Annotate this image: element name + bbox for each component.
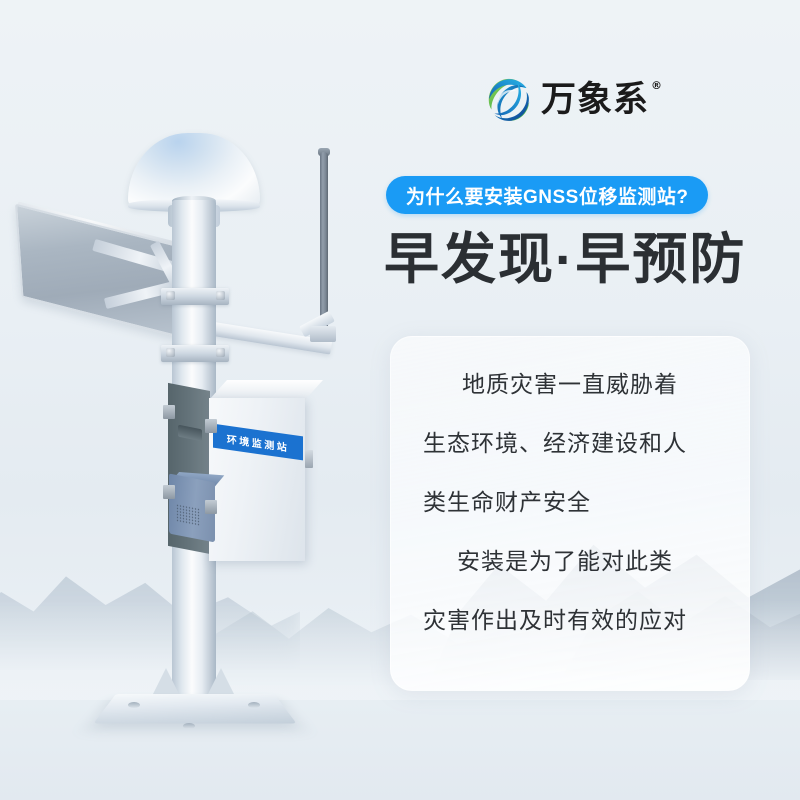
registered-trademark-icon: ® [651, 80, 663, 91]
description-line: 地质灾害一直威胁着 [417, 373, 723, 396]
page-title: 早发现·早预防 [384, 228, 746, 291]
enclosure-hinge [205, 419, 217, 433]
description-line: 安装是为了能对此类 [417, 550, 723, 573]
gnss-monitoring-station-illustration: 环境监测站 [0, 0, 420, 800]
anchor-hole [248, 702, 260, 708]
enclosure-hinge [163, 485, 175, 499]
enclosure-label-text: 环境监测站 [227, 430, 290, 454]
brand-wordmark-text: 万象系 [541, 80, 649, 120]
anchor-hole [128, 702, 140, 708]
poster-canvas: 环境监测站 [0, 0, 800, 800]
enclosure-front-panel [209, 398, 305, 561]
enclosure-latch [305, 450, 313, 468]
globe-swirl-icon [486, 77, 532, 123]
clamp-bolt [166, 348, 175, 357]
clamp-bolt [216, 348, 225, 357]
brand-wordmark: 万象系 ® [541, 83, 649, 118]
brand-logo: 万象系 ® [486, 70, 666, 130]
question-banner-text: 为什么要安装GNSS位移监测站? [406, 182, 688, 209]
description-card: 地质灾害一直威胁着 生态环境、经济建设和人 类生命财产安全 安装是为了能对此类 … [390, 336, 750, 691]
description-line: 类生命财产安全 [417, 491, 723, 514]
clamp-bolt [166, 291, 175, 300]
base-plate [93, 694, 296, 724]
antenna-rod [320, 152, 328, 332]
question-banner: 为什么要安装GNSS位移监测站? [386, 176, 708, 214]
enclosure-hinge [163, 405, 175, 419]
anchor-hole [183, 723, 195, 729]
enclosure-top-panel [209, 380, 323, 400]
clamp-bolt [216, 291, 225, 300]
description-line: 灾害作出及时有效的应对 [417, 609, 723, 632]
enclosure-hinge [205, 500, 217, 514]
description-line: 生态环境、经济建设和人 [417, 432, 723, 455]
antenna-rod-mount [310, 326, 336, 342]
